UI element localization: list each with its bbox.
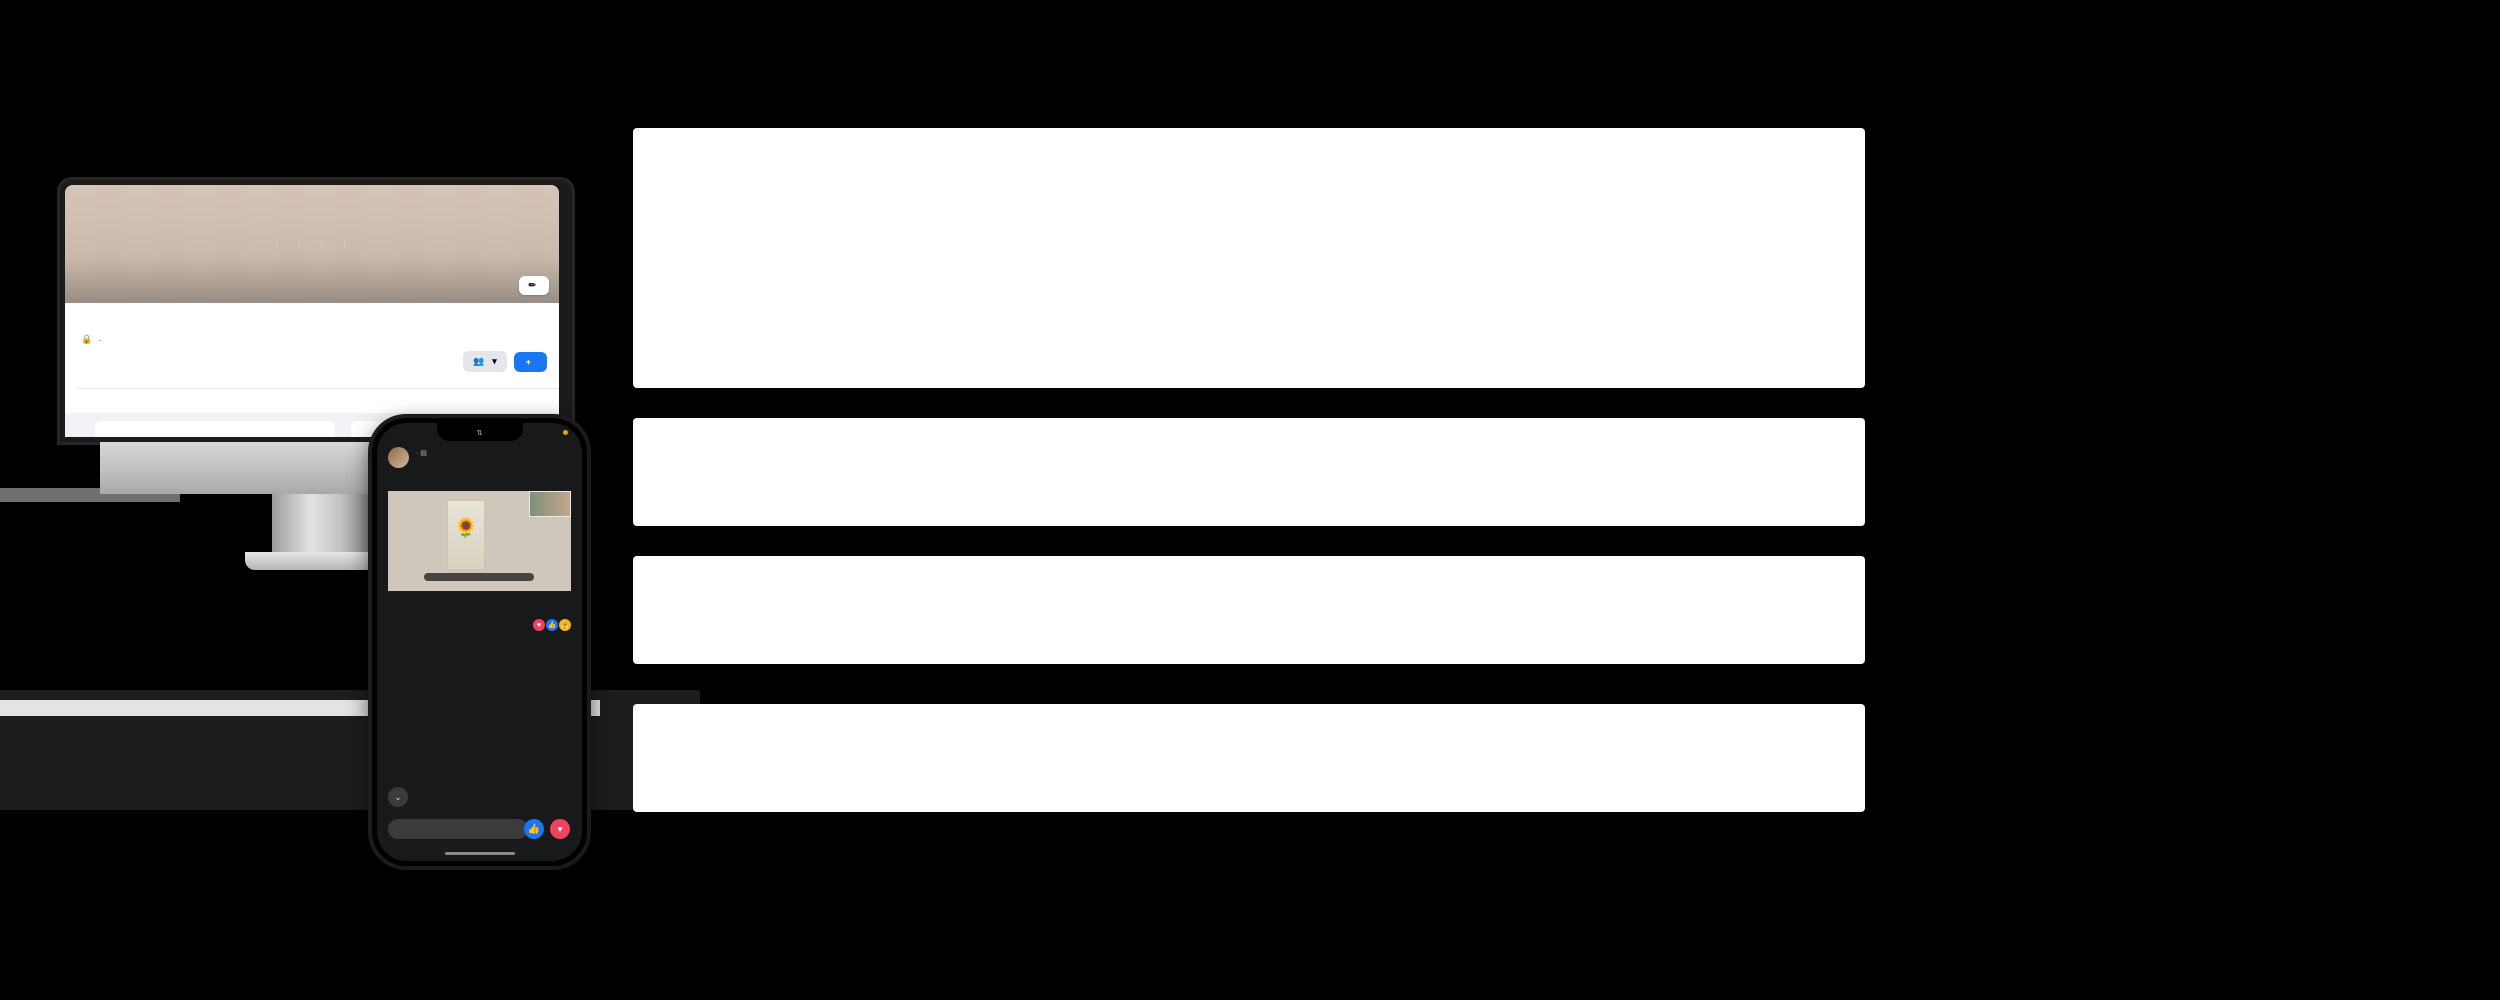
heart-icon: ♥: [533, 619, 545, 631]
group-actions: 👥 ▾ +: [463, 351, 547, 372]
divider: |: [275, 242, 280, 249]
recording-indicator-icon: [563, 430, 568, 435]
feature-banner-4: [633, 704, 1865, 812]
care-icon: 🤗: [559, 619, 571, 631]
divider: |: [321, 242, 326, 249]
home-indicator: [445, 852, 515, 855]
post-timestamp: · ▤: [416, 449, 427, 457]
group-cover-photo: |||| ✏: [65, 185, 559, 303]
dot-separator: ·: [98, 335, 101, 345]
imac-bezel: |||| ✏ 🔒 ·: [60, 180, 572, 442]
slide-image: 🌻: [446, 499, 486, 571]
phone-status-bar: ⇅: [377, 426, 582, 440]
post-reactions[interactable]: ♥ 👍 🤗: [533, 619, 572, 631]
comment-composer[interactable]: [388, 819, 528, 839]
plus-icon: +: [526, 357, 531, 367]
divider: |: [298, 242, 303, 249]
members-icon: 👥: [473, 356, 484, 367]
feature-banner-2: [633, 418, 1865, 526]
feature-banner-1: [633, 128, 1865, 388]
feed-composer-card[interactable]: [95, 421, 335, 437]
joined-button[interactable]: 👥 ▾: [463, 351, 507, 372]
heart-icon: ♥: [557, 824, 562, 834]
live-video-player[interactable]: 🌻: [388, 491, 571, 591]
heart-button[interactable]: ♥: [550, 819, 570, 839]
signal-icon: ⇅: [477, 429, 483, 437]
audience-icon: · ▤: [416, 450, 427, 457]
chevron-down-icon: ▾: [492, 356, 497, 367]
edit-cover-button[interactable]: ✏: [519, 276, 549, 295]
thumbs-up-icon: 👍: [528, 824, 540, 835]
divider: |: [344, 242, 349, 249]
presenter-thumbnail: [529, 491, 571, 517]
group-meta: 🔒 ·: [81, 334, 104, 345]
live-caption: [424, 573, 534, 581]
facebook-group-screen: |||| ✏ 🔒 ·: [65, 185, 559, 437]
post-author-avatar[interactable]: [388, 447, 409, 468]
like-button[interactable]: 👍: [524, 819, 544, 839]
phone-screen: ⇅ · ▤: [377, 423, 582, 861]
iphone-mockup: ⇅ · ▤: [372, 418, 587, 866]
zoom-call-grid-top[interactable]: [1963, 188, 2377, 426]
comments-toggle[interactable]: ⌄: [388, 787, 416, 807]
lock-icon: 🔒: [81, 334, 92, 345]
group-header: 🔒 · 👥 ▾ +: [65, 303, 559, 437]
pencil-icon: ✏: [528, 280, 536, 291]
feature-banner-3: [633, 556, 1865, 664]
cover-pillars: ||||: [65, 242, 559, 249]
chevron-down-icon: ⌄: [388, 787, 408, 807]
zoom-call-grid-bottom[interactable]: [1933, 470, 2415, 734]
poster-canvas: |||| ✏ 🔒 ·: [0, 0, 2500, 1000]
invite-button[interactable]: +: [514, 352, 547, 372]
post-header: · ▤: [388, 447, 572, 468]
thumbs-up-icon: 👍: [546, 619, 558, 631]
sunflower-icon: 🌻: [454, 516, 478, 540]
group-tabs: [77, 379, 559, 389]
imac-stand-neck: [272, 494, 368, 560]
